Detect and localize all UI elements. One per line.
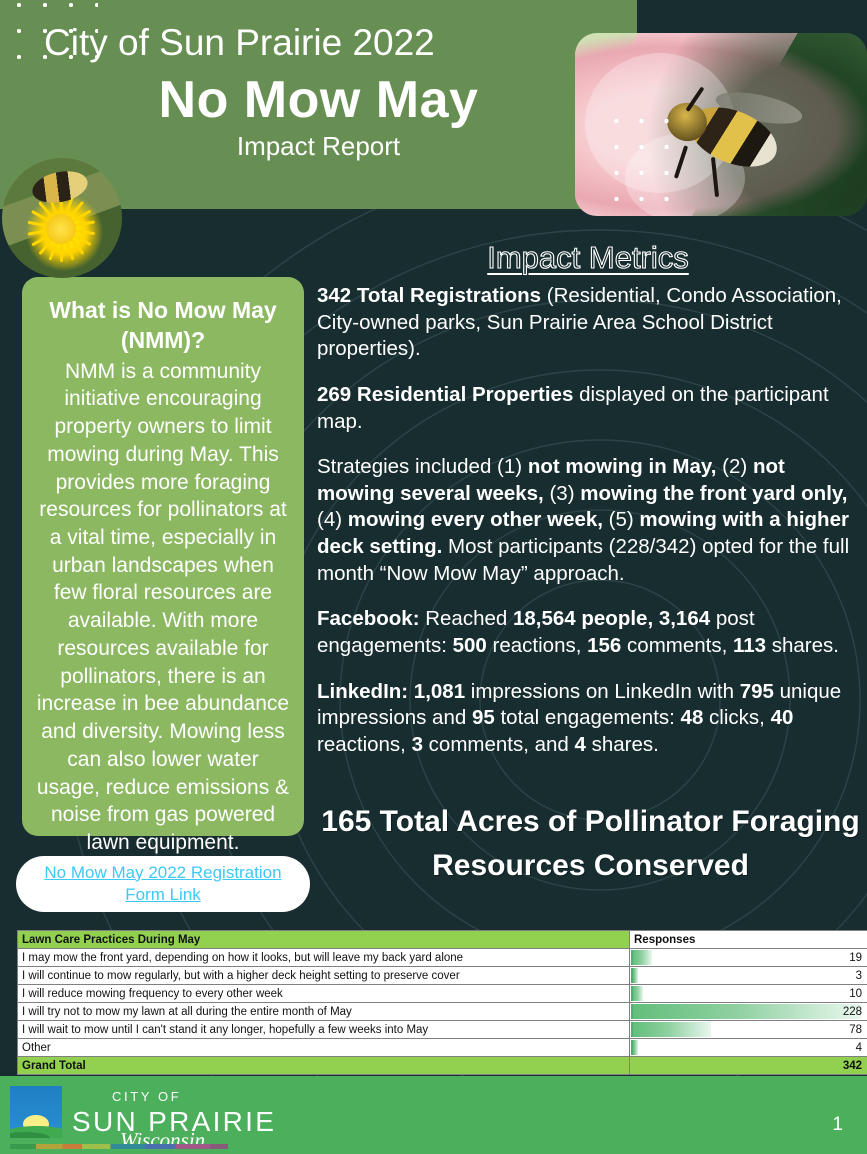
response-value: 4 xyxy=(856,1042,862,1054)
acres-conserved-headline: 165 Total Acres of Pollinator Foraging R… xyxy=(318,800,863,889)
strategy-num-2: (2) xyxy=(716,455,752,478)
strategies-lead: Strategies included (1) xyxy=(317,455,528,478)
linkedin-shares: 4 xyxy=(575,733,586,756)
facebook-comments: 156 xyxy=(587,634,621,657)
data-bar xyxy=(631,1040,638,1055)
table-row: I may mow the front yard, depending on h… xyxy=(18,949,867,967)
table-total-row: Grand Total342 xyxy=(18,1057,867,1075)
metric-residential-properties: 269 Residential Properties displayed on … xyxy=(317,382,860,435)
no-mow-may-impact-report-page: City of Sun Prairie 2022 No Mow May Impa… xyxy=(0,0,867,1154)
strategy-1: not mowing in May, xyxy=(528,455,717,478)
table-row: I will continue to mow regularly, but wi… xyxy=(18,967,867,985)
linkedin-reactions: 40 xyxy=(771,706,794,729)
cell-grand-total-label: Grand Total xyxy=(18,1057,630,1075)
facebook-t3: reactions, xyxy=(487,634,587,657)
metric-strategies: Strategies included (1) not mowing in Ma… xyxy=(317,454,860,587)
facebook-shares: 113 xyxy=(733,634,766,657)
response-value: 228 xyxy=(843,1006,862,1018)
linkedin-engagements: 95 xyxy=(472,706,495,729)
data-bar xyxy=(631,1022,711,1037)
facebook-t5: shares. xyxy=(766,634,839,657)
strategy-num-5: (5) xyxy=(603,508,639,531)
data-bar xyxy=(631,986,643,1001)
table-row: I will reduce mowing frequency to every … xyxy=(18,985,867,1003)
linkedin-t3: total engagements: xyxy=(495,706,681,729)
column-header-responses: Responses xyxy=(630,931,867,949)
metric-total-registrations: 342 Total Registrations (Residential, Co… xyxy=(317,283,860,363)
registration-form-link-button[interactable]: No Mow May 2022 Registration Form Link xyxy=(16,856,310,912)
cell-grand-total-value: 342 xyxy=(630,1057,867,1075)
linkedin-clicks: 48 xyxy=(681,706,704,729)
page-supertitle: City of Sun Prairie 2022 xyxy=(44,22,604,64)
nmm-card-heading: What is No Mow May (NMM)? xyxy=(36,295,290,356)
cell-practice: Other xyxy=(18,1039,630,1057)
data-bar xyxy=(631,1004,861,1019)
logo-color-strip xyxy=(10,1144,228,1149)
linkedin-label: LinkedIn: xyxy=(317,680,408,703)
facebook-t4: comments, xyxy=(621,634,733,657)
page-title: No Mow May xyxy=(0,70,637,130)
linkedin-t5: reactions, xyxy=(317,733,412,756)
sun-prairie-wordmark: CITY OF SUN PRAIRIE Wisconsin xyxy=(72,1090,276,1151)
impact-metrics-heading: Impact Metrics xyxy=(318,240,858,276)
column-header-practice: Lawn Care Practices During May xyxy=(18,931,630,949)
data-bar xyxy=(631,950,652,965)
table-row: I will wait to mow until I can't stand i… xyxy=(18,1021,867,1039)
sun-prairie-logo-icon xyxy=(10,1086,62,1138)
cell-responses: 78 xyxy=(630,1021,867,1039)
table-row: I will try not to mow my lawn at all dur… xyxy=(18,1003,867,1021)
strategy-3: mowing the front yard only, xyxy=(580,482,847,505)
what-is-no-mow-may-card: What is No Mow May (NMM)? NMM is a commu… xyxy=(22,277,304,836)
cell-practice: I may mow the front yard, depending on h… xyxy=(18,949,630,967)
table-row: Other4 xyxy=(18,1039,867,1057)
cell-practice: I will reduce mowing frequency to every … xyxy=(18,985,630,1003)
impact-metrics-heading-text: Impact Metrics xyxy=(487,240,689,275)
cell-responses: 19 xyxy=(630,949,867,967)
logo-line-city-of: CITY OF xyxy=(112,1090,276,1103)
linkedin-t4: clicks, xyxy=(703,706,770,729)
footer-bar: CITY OF SUN PRAIRIE Wisconsin 1 xyxy=(0,1076,867,1154)
cell-practice: I will try not to mow my lawn at all dur… xyxy=(18,1003,630,1021)
linkedin-comments: 3 xyxy=(412,733,423,756)
linkedin-unique: 795 xyxy=(740,680,774,703)
cell-responses: 4 xyxy=(630,1039,867,1057)
cell-practice: I will continue to mow regularly, but wi… xyxy=(18,967,630,985)
response-value: 10 xyxy=(849,988,862,1000)
registration-form-link[interactable]: No Mow May 2022 Registration Form Link xyxy=(28,862,298,907)
response-value: 3 xyxy=(856,970,862,982)
strategy-num-3: (3) xyxy=(544,482,580,505)
metric-facebook: Facebook: Reached 18,564 people, 3,164 p… xyxy=(317,606,860,659)
linkedin-t6: comments, and xyxy=(423,733,575,756)
strategy-4: mowing every other week, xyxy=(348,508,603,531)
facebook-label: Facebook: xyxy=(317,607,420,630)
response-value: 78 xyxy=(849,1024,862,1036)
linkedin-t7: shares. xyxy=(586,733,659,756)
data-bar xyxy=(631,968,638,983)
linkedin-impressions: 1,081 xyxy=(408,680,465,703)
metric-linkedin: LinkedIn: 1,081 impressions on LinkedIn … xyxy=(317,679,860,759)
bee-on-dandelion-photo xyxy=(2,158,122,278)
table-header-row: Lawn Care Practices During May Responses xyxy=(18,931,867,949)
cell-practice: I will wait to mow until I can't stand i… xyxy=(18,1021,630,1039)
cell-responses: 228 xyxy=(630,1003,867,1021)
strategy-num-4: (4) xyxy=(317,508,348,531)
metric-registrations-value: 342 Total Registrations xyxy=(317,284,541,307)
response-value: 19 xyxy=(849,952,862,964)
facebook-reach: 18,564 people, 3,164 xyxy=(513,607,710,630)
page-number: 1 xyxy=(832,1114,843,1136)
linkedin-t1: impressions on LinkedIn with xyxy=(465,680,740,703)
metric-residential-value: 269 Residential Properties xyxy=(317,383,573,406)
nmm-card-body: NMM is a community initiative encouragin… xyxy=(36,358,290,857)
dot-grid-decoration-photo xyxy=(604,108,676,208)
facebook-t1: Reached xyxy=(420,607,513,630)
cell-responses: 10 xyxy=(630,985,867,1003)
lawn-care-practices-table: Lawn Care Practices During May Responses… xyxy=(17,930,867,1075)
cell-responses: 3 xyxy=(630,967,867,985)
facebook-reactions: 500 xyxy=(453,634,487,657)
impact-metrics-body: 342 Total Registrations (Residential, Co… xyxy=(317,283,860,778)
